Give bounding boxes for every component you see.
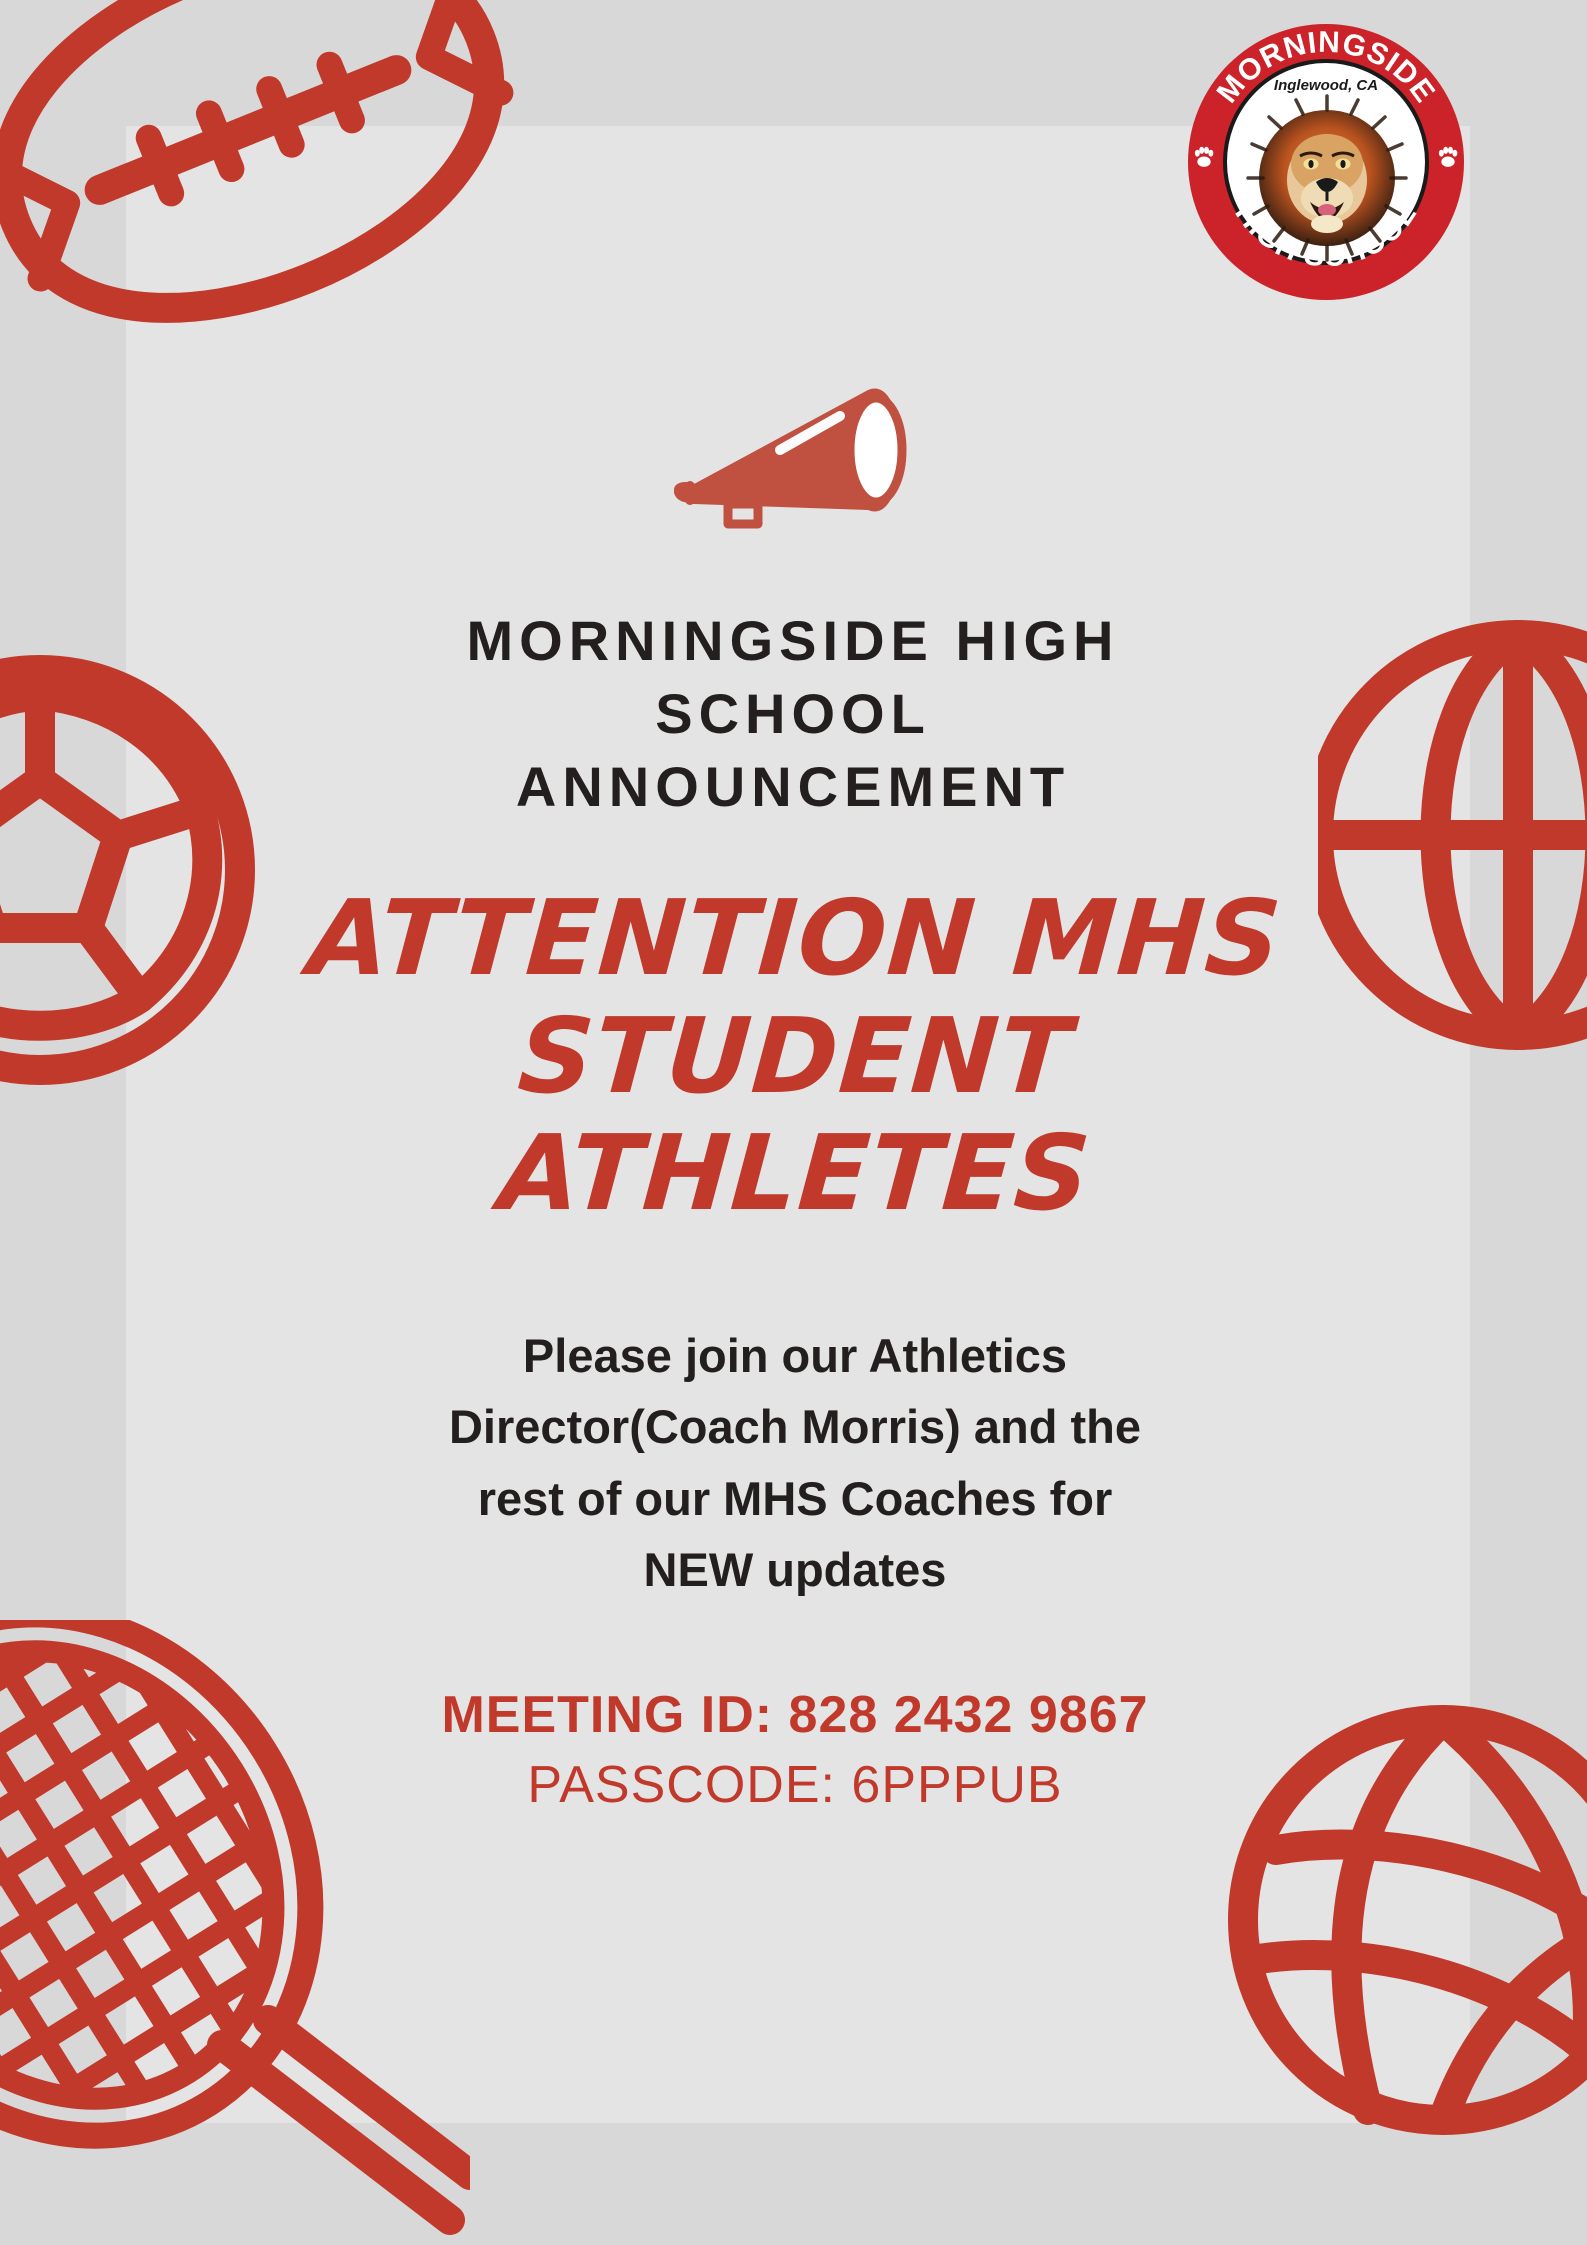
meeting-credentials: MEETING ID: 828 2432 9867 PASSCODE: 6PPP… [250,1680,1340,1820]
announcement-flyer: MORNINGSIDE HIGH SCHOOL [0,0,1587,2245]
headline: ATTENTION MHS STUDENT ATHLETES [200,880,1390,1233]
meeting-id: MEETING ID: 828 2432 9867 [250,1680,1340,1750]
megaphone-icon [660,372,930,532]
morningside-high-school-logo: MORNINGSIDE HIGH SCHOOL [1186,22,1466,302]
meeting-passcode: PASSCODE: 6PPPUB [250,1750,1340,1820]
body-line-2: Director(Coach Morris) and the [250,1391,1340,1462]
heading-line-1: MORNINGSIDE HIGH [293,605,1293,678]
heading-line-3: ANNOUNCEMENT [293,751,1293,824]
headline-line-3: ATHLETES [196,1115,1394,1233]
headline-line-1: ATTENTION MHS [196,880,1394,998]
heading-line-2: SCHOOL [293,678,1293,751]
headline-line-2: STUDENT [196,998,1394,1116]
body-line-4: NEW updates [250,1534,1340,1605]
logo-center-text: Inglewood, CA [1274,77,1378,94]
page-title: MORNINGSIDE HIGH SCHOOL ANNOUNCEMENT [293,605,1293,823]
body-text: Please join our Athletics Director(Coach… [250,1320,1340,1606]
body-line-1: Please join our Athletics [250,1320,1340,1391]
body-line-3: rest of our MHS Coaches for [250,1463,1340,1534]
